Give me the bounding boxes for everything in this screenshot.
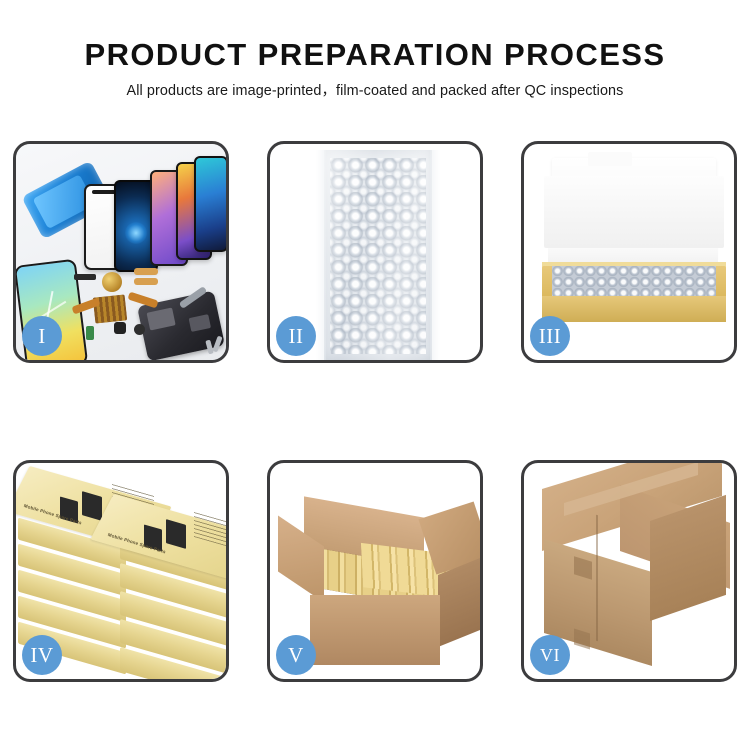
camera-module-icon [114, 322, 126, 334]
step-badge-6: VI [530, 635, 570, 675]
step-badge-3: III [530, 316, 570, 356]
bubble-wrap-pouch-icon [324, 150, 432, 360]
flex-cable-4-icon [134, 278, 158, 285]
flex-cable-3-icon [134, 268, 158, 275]
plastic-sheen [324, 150, 432, 360]
page-subtitle: All products are image-printed，film-coat… [0, 82, 750, 101]
step-card-1: I [13, 141, 229, 363]
box-lid-tab [588, 152, 632, 166]
home-button-icon [134, 324, 145, 335]
step-badge-2: II [276, 316, 316, 356]
step-card-6: VI [521, 460, 737, 682]
speaker-coil-icon [102, 272, 122, 292]
steps-grid: I II [13, 141, 737, 701]
product-preparation-infographic: PRODUCT PREPARATION PROCESS All products… [0, 0, 750, 750]
battery-icon [86, 326, 94, 340]
step-badge-4: IV [22, 635, 62, 675]
step-card-5: V [267, 460, 483, 682]
header: PRODUCT PREPARATION PROCESS All products… [0, 36, 750, 101]
page-title: PRODUCT PREPARATION PROCESS [0, 36, 750, 74]
earpiece-speaker-icon [74, 274, 96, 280]
bubble-wrap-contents [552, 266, 716, 296]
step-card-2: II [267, 141, 483, 363]
step-badge-1: I [22, 316, 62, 356]
box-lid-fold [544, 176, 724, 248]
phone-screen-teal-icon [194, 156, 226, 252]
step-card-3: III [521, 141, 737, 363]
carton-seam [596, 515, 598, 642]
step-badge-5: V [276, 635, 316, 675]
kraft-tray-front [542, 296, 726, 322]
carton-front-panel [310, 595, 440, 665]
step-card-4: Mobile Phone Spare Parts Mobile Phone Sp… [13, 460, 229, 682]
